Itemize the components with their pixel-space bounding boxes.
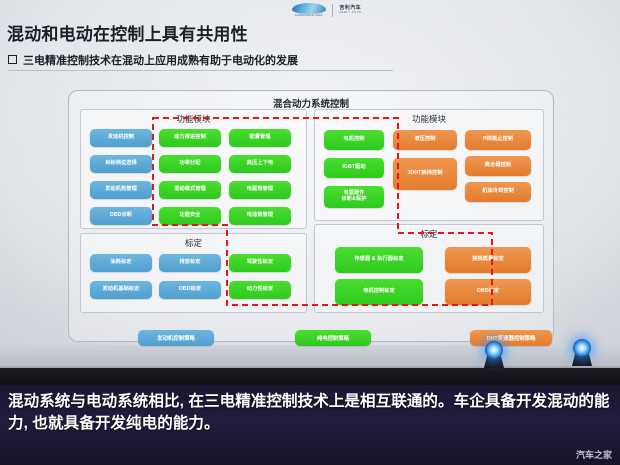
stage-light-icon-2 [570,336,594,366]
logo-divider [332,4,333,17]
stage-light-beam-1 [485,341,503,359]
chip-edrive-thermal-mgmt[interactable]: 电驱热管理 [229,181,291,199]
chip-3dht-shift-control[interactable]: 3DHT换挡控制 [393,158,457,190]
caption-band: 混动系统与电动系统相比, 在三电精准控制技术上是相互联通的。车企具备开发混动的能… [0,385,620,465]
screenshot-root: HANGZHOU 2022 吉利汽车 GEELY AUTO 混动和电动在控制上具… [0,0,620,465]
chip-shift-quality-calibration[interactable]: 换挡质量标定 [445,247,531,273]
asian-games-logo-icon: HANGZHOU 2022 [292,3,326,18]
chip-energy-mgmt[interactable]: 能量管理 [229,129,291,147]
stage-light-icon-1 [482,338,506,368]
chip-engine-thermal-mgmt[interactable]: 发动机热管理 [90,181,152,199]
chip-sensor-actuator-calibration[interactable]: 传感器 & 执行器标定 [335,247,423,273]
group-right-calibration: 标定 传感器 & 执行器标定 电机控制标定 换挡质量标定 OBD标定 [314,224,544,313]
chip-drivability-calibration[interactable]: 驾驶性标定 [229,254,291,272]
group-left-modules: 功能模块 发动机控制 目标挡位选择 发动机热管理 OBD诊断 动力推进控制 功率… [80,109,307,229]
chip-igbt-drive[interactable]: IGBT驱动 [324,158,384,178]
chip-functional-safety[interactable]: 功能安全 [159,207,221,225]
chip-target-gear-select[interactable]: 目标挡位选择 [90,155,152,173]
chip-power-distribution[interactable]: 功率分配 [159,155,221,173]
geely-logo-en: GEELY AUTO [339,11,361,14]
chip-hydraulic-control[interactable]: 液压控制 [393,130,457,150]
stage-light-beam-2 [573,339,591,357]
group-left-calibration-title: 标定 [81,237,306,249]
group-right-modules-title: 功能模块 [315,113,543,125]
chip-power-propulsion-control[interactable]: 动力推进控制 [159,129,221,147]
diagram-panel: 混合动力系统控制 功能模块 发动机控制 目标挡位选择 发动机热管理 OBD诊断 … [68,90,554,342]
geely-logo-icon: 吉利汽车 GEELY AUTO [339,6,361,15]
watermark: 汽车之家 [576,448,612,461]
group-left-calibration: 标定 油耗标定 发动机基础标定 排放标定 OBD标定 驾驶性标定 动力性标定 [80,233,307,313]
chip-battery-thermal-mgmt[interactable]: 电池热管理 [229,207,291,225]
chip-performance-calibration[interactable]: 动力性标定 [229,281,291,299]
caption-text: 混动系统与电动系统相比, 在三电精准控制技术上是相互联通的。车企具备开发混动的能… [8,391,612,435]
chip-engine-control[interactable]: 发动机控制 [90,129,152,147]
group-right-calibration-title: 标定 [315,228,543,240]
chip-fuel-consumption-calibration[interactable]: 油耗标定 [90,254,152,272]
chip-emission-calibration[interactable]: 排放标定 [159,254,221,272]
square-bullet-icon [8,55,17,64]
chip-edrive-hw-diagnosis-protection[interactable]: 电驱硬件 诊断&保护 [324,186,384,208]
chip-hybrid-mode-mgmt[interactable]: 混动模式管理 [159,181,221,199]
slide-subtitle-row: 三电精准控制技术在混动上应用成熟有助于电动化的发展 [8,52,298,68]
group-right-modules: 功能模块 电机控制 IGBT驱动 电驱硬件 诊断&保护 液压控制 3DHT换挡控… [314,109,544,221]
subtitle-underline [8,70,393,71]
slide-title: 混动和电动在控制上具有共用性 [7,20,248,45]
group-left-modules-title: 功能模块 [81,113,306,125]
asian-games-logo-caption: HANGZHOU 2022 [295,15,323,18]
presentation-slide: HANGZHOU 2022 吉利汽车 GEELY AUTO 混动和电动在控制上具… [0,0,620,345]
chip-motor-control[interactable]: 电机控制 [324,130,384,150]
chip-p-lock-control[interactable]: P挡锁止控制 [465,130,531,150]
chip-motor-control-calibration[interactable]: 电机控制标定 [335,279,423,305]
chip-engine-base-calibration[interactable]: 发动机基础标定 [90,281,152,299]
slide-subtitle: 三电精准控制技术在混动上应用成熟有助于电动化的发展 [23,52,298,68]
chip-obd-calibration-right[interactable]: OBD标定 [445,279,531,305]
chip-obd-calibration-left[interactable]: OBD标定 [159,281,221,299]
chip-oil-cooling-control[interactable]: 机油冷却控制 [465,182,531,202]
asian-games-mark-icon [292,3,326,14]
chip-obd-diagnosis[interactable]: OBD诊断 [90,207,152,225]
chip-hv-power-on-off[interactable]: 高压上下电 [229,155,291,173]
strategy-pure-electric[interactable]: 纯电控制策略 [295,330,371,346]
diagram-panel-title: 混合动力系统控制 [69,96,553,110]
logo-bar: HANGZHOU 2022 吉利汽车 GEELY AUTO [292,0,361,20]
strategy-engine-control[interactable]: 发动机控制策略 [138,330,214,346]
chip-clutch-control[interactable]: 离合器控制 [465,156,531,176]
